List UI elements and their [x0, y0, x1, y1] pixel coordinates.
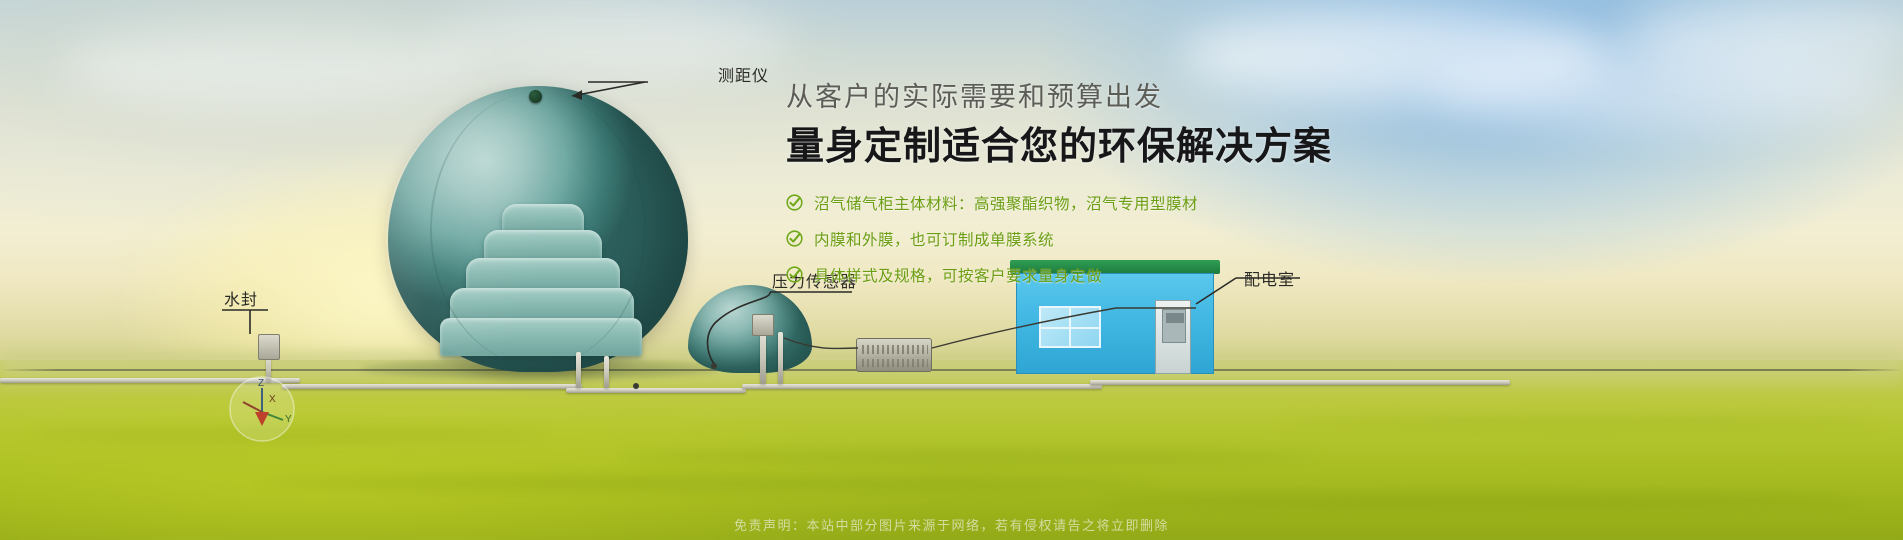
list-item-label: 沼气储气柜主体材料：高强聚酯织物，沼气专用型膜材	[814, 192, 1198, 214]
house-window	[1039, 306, 1101, 348]
gizmo-y-label: Y	[285, 414, 292, 425]
cloud	[1620, 0, 1903, 70]
label-rangefinder: 测距仪	[718, 62, 769, 86]
horizon-line	[0, 369, 1903, 371]
gas-pipeline	[1090, 380, 1510, 385]
list-item: 具体样式及规格，可按客户要求量身定做	[786, 264, 1406, 286]
check-circle-icon	[786, 230, 803, 247]
gizmo-x-label: X	[269, 394, 276, 405]
water-seal-valve	[258, 334, 280, 360]
hero-banner: 测距仪 水封 压力传感器 配电室 Z Y X 从客户的实际需要和预算出发 量身定…	[0, 0, 1903, 540]
dome-highlight	[386, 86, 690, 372]
hero-kicker: 从客户的实际需要和预算出发	[786, 80, 1406, 115]
field-streak	[260, 478, 1160, 488]
pressure-sensor-valve	[752, 314, 774, 336]
list-item-label: 具体样式及规格，可按客户要求量身定做	[814, 264, 1102, 286]
gas-pipeline	[282, 384, 582, 389]
compressor-unit	[856, 338, 932, 372]
hero-text-block: 从客户的实际需要和预算出发 量身定制适合您的环保解决方案 沼气储气柜主体材料：高…	[786, 80, 1406, 300]
field-streak	[1280, 418, 1880, 428]
check-circle-icon	[786, 266, 803, 283]
pipe-riser	[576, 352, 581, 388]
hero-headline: 量身定制适合您的环保解决方案	[786, 124, 1406, 172]
house-door	[1155, 300, 1191, 374]
axis-orientation-gizmo: Z Y X	[225, 372, 299, 446]
pipe-riser	[604, 356, 609, 388]
label-water-seal: 水封	[224, 286, 258, 310]
feature-list: 沼气储气柜主体材料：高强聚酯织物，沼气专用型膜材 内膜和外膜，也可订制成单膜系统…	[786, 192, 1406, 286]
field-streak	[1100, 496, 1860, 506]
gas-pipeline	[742, 384, 1102, 389]
list-item: 内膜和外膜，也可订制成单膜系统	[786, 228, 1406, 250]
field-streak	[620, 452, 1320, 462]
gizmo-z-label: Z	[258, 378, 264, 389]
control-panel	[1162, 309, 1186, 343]
rangefinder-sensor-dot	[529, 90, 542, 103]
list-item: 沼气储气柜主体材料：高强聚酯织物，沼气专用型膜材	[786, 192, 1406, 214]
biogas-storage-dome	[388, 86, 688, 372]
disclaimer-text: 免责声明：本站中部分图片来源于网络，若有侵权请告之将立即删除	[0, 515, 1903, 534]
list-item-label: 内膜和外膜，也可订制成单膜系统	[814, 228, 1054, 250]
gas-pipeline	[566, 388, 746, 393]
check-circle-icon	[786, 194, 803, 211]
pipe-riser	[778, 332, 783, 384]
